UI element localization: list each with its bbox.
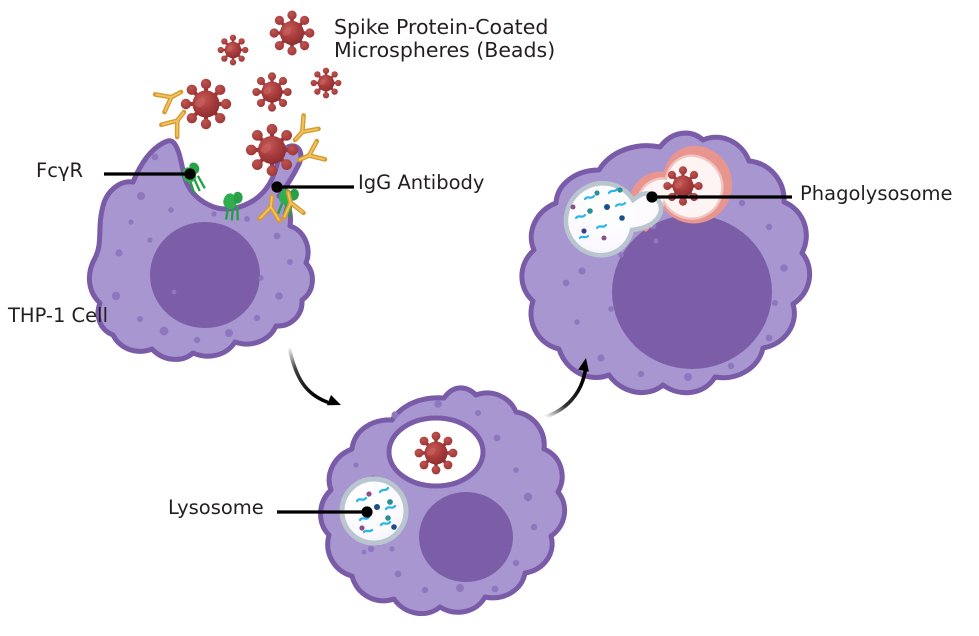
bead-icon [252,72,291,111]
fcgr-label: FcγR [36,160,83,182]
phagosome [389,418,483,486]
bead-icon [181,79,232,130]
bead-icon [663,166,702,205]
phagolysosome-label: Phagolysosome [800,183,953,205]
bead-icon [311,68,342,99]
bead-icon [270,11,315,56]
nucleus [150,222,260,328]
lysosome-label: Lysosome [168,497,264,519]
beads-title-label: Spike Protein-Coated Microspheres (Beads… [334,16,555,62]
bead-icon [415,432,458,475]
thp1-cell-label: THP-1 Cell [8,305,108,327]
phagocytosis-diagram-svg [0,0,979,636]
cell-phagosome [321,388,565,614]
bead-icon [246,124,298,176]
leader-dot-lysosome [361,506,372,517]
nucleus [419,492,513,582]
arrow-engulf [289,347,343,410]
leader-dot-fcgr [184,168,195,179]
igg-antibody-icon [155,83,186,112]
diagram-canvas: Spike Protein-Coated Microspheres (Beads… [0,0,979,636]
bead-with-antibodies [155,79,231,137]
bead-icon [218,35,249,66]
cell-phagolysosome [522,133,810,393]
igg-antibody-label: IgG Antibody [358,172,484,194]
nucleus [612,215,772,369]
leader-dot-phagolysosome [646,191,657,202]
leader-dot-igg [271,181,282,192]
